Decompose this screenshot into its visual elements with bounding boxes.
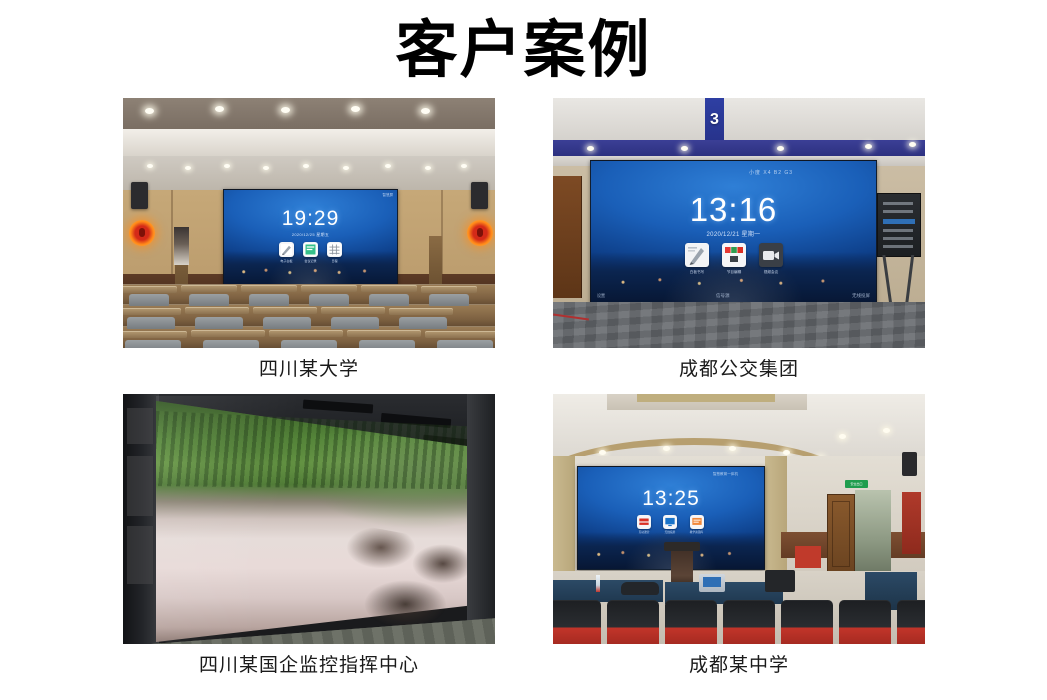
seat-desk: [301, 285, 357, 292]
screen-date: 2020/12/25 星期五: [224, 232, 397, 238]
screen-app-schedule[interactable]: 日程: [327, 242, 342, 263]
ceiling-downlight: [587, 146, 594, 151]
case-photo-school-lecture-hall: 智慧教育一体机 13:25 互动课堂: [553, 394, 925, 644]
seat-desk: [361, 285, 417, 292]
ceiling-downlight: [425, 166, 431, 170]
screen-glare: [156, 396, 495, 642]
video-camera-icon: [759, 243, 783, 267]
case-caption: 四川某大学: [123, 357, 495, 383]
ceiling-downlight: [303, 164, 309, 168]
audience-chair: [553, 600, 601, 644]
case-card-chengdu-middle-school[interactable]: 智慧教育一体机 13:25 互动课堂: [553, 394, 925, 679]
ceiling-downlight: [281, 107, 290, 113]
seat-back: [249, 294, 289, 306]
app-label: 白板书写: [686, 269, 708, 274]
ceiling-band: [123, 129, 495, 156]
screen-app-row: 电子白板 会议记录: [224, 242, 397, 263]
seat-back: [437, 340, 493, 348]
laptop: [699, 574, 725, 592]
screen-clock: 19:29: [224, 207, 397, 231]
ceiling-lower: [123, 156, 495, 190]
screen-app-whiteboard[interactable]: 电子白板: [279, 242, 294, 263]
audience-chair: [665, 600, 717, 644]
panel-row: [883, 210, 913, 213]
ceiling-downlight: [461, 164, 467, 168]
panel-row: [883, 202, 913, 205]
seat-desk: [185, 307, 249, 314]
app-label: 会议记录: [304, 258, 318, 263]
seat-back: [331, 317, 379, 329]
screen-settings-label[interactable]: 设置: [597, 293, 605, 299]
app-label: 节目编辑: [723, 269, 745, 274]
app-label: 互动课堂: [638, 530, 651, 534]
seat-desk: [389, 308, 453, 315]
case-card-chengdu-bus-group[interactable]: 3 小度 X4 B2 G3 13:16 2020/12/21 星期一: [553, 98, 925, 383]
ceiling-downlight: [385, 164, 391, 168]
case-caption: 成都公交集团: [553, 357, 925, 383]
seat-desk: [421, 286, 477, 293]
screen-app-row: 白板书写 节目编辑: [591, 243, 876, 275]
exit-sign: 安全出口: [845, 480, 868, 488]
seat-back: [195, 317, 243, 329]
audience-chair: [723, 600, 775, 644]
wall-glass-panel: [127, 526, 153, 584]
screen-app-row: 互动课堂 无线投屏: [578, 515, 764, 534]
seat-back: [263, 317, 311, 329]
ceiling-downlight: [783, 450, 790, 455]
case-photo-bus-group-led-wall: 3 小度 X4 B2 G3 13:16 2020/12/21 星期一: [553, 98, 925, 348]
seat-desk: [425, 331, 495, 338]
seat-back: [281, 340, 337, 348]
ceiling-downlight: [421, 108, 430, 114]
laptop-bag: [621, 582, 659, 595]
screen-date: 2020/12/21 星期一: [591, 229, 876, 238]
app-label: 教学资源库: [690, 530, 704, 534]
customer-cases-grid: 智慧屏 19:29 2020/12/25 星期五 电子白板: [123, 98, 923, 690]
seat-desk: [181, 285, 237, 292]
screen-cast-label[interactable]: 无线投屏: [852, 293, 870, 299]
screen-app-courseware[interactable]: 互动课堂: [637, 515, 651, 534]
wall-pillar: [553, 456, 575, 571]
page-title: 客户案例: [0, 14, 1047, 88]
ceiling: [553, 98, 925, 140]
screen-top-right-label: 智慧教育一体机: [713, 472, 738, 477]
wall-speaker: [131, 182, 148, 209]
lectern: [174, 227, 189, 265]
wall-notice-board: [902, 492, 921, 554]
screen-app-screen-share[interactable]: 无线投屏: [663, 515, 677, 534]
seat-desk: [321, 307, 385, 314]
color-bars-icon: [722, 243, 746, 267]
seat-desk: [269, 330, 343, 337]
seat-back: [399, 317, 447, 329]
app-label: 日程: [328, 258, 342, 263]
screen-source-label[interactable]: 信号源: [716, 293, 730, 299]
app-label: 电子白板: [280, 258, 294, 263]
courseware-icon: [637, 515, 651, 529]
screen-model-label: 小度 X4 B2 G3: [749, 169, 793, 176]
audience-chair: [839, 600, 891, 644]
seat-back: [127, 317, 175, 329]
wall-emblem-light: [467, 220, 493, 246]
wall-glass-panel: [127, 456, 153, 516]
ceiling-downlight: [147, 164, 153, 168]
panel-row: [883, 245, 913, 248]
ceiling-downlight: [599, 450, 606, 455]
open-doorway: [855, 490, 891, 572]
wall-speaker: [471, 182, 488, 209]
ceiling-downlight: [224, 164, 230, 168]
seat-back: [359, 340, 415, 348]
led-video-wall[interactable]: 小度 X4 B2 G3 13:16 2020/12/21 星期一: [590, 160, 877, 304]
notes-icon: [303, 242, 318, 257]
ceiling-downlight: [263, 166, 269, 170]
led-video-wall[interactable]: [156, 396, 495, 642]
screen-app-color[interactable]: 节目编辑: [722, 243, 746, 275]
app-label: 无线投屏: [664, 530, 677, 534]
seat-desk: [123, 286, 177, 293]
case-card-sichuan-university[interactable]: 智慧屏 19:29 2020/12/25 星期五 电子白板: [123, 98, 495, 383]
screen-app-resource[interactable]: 教学资源库: [689, 515, 704, 534]
seat-desk: [123, 331, 187, 338]
app-label: 视频会议: [760, 269, 782, 274]
ceiling-downlight: [351, 106, 360, 112]
panel-row: [883, 237, 913, 240]
led-display-screen[interactable]: 智慧屏 19:29 2020/12/25 星期五 电子白板: [223, 189, 398, 287]
seat-back: [309, 294, 349, 306]
right-wall: [467, 394, 495, 644]
wall-emblem-light: [129, 220, 155, 246]
case-photo-university-auditorium: 智慧屏 19:29 2020/12/25 星期五 电子白板: [123, 98, 495, 348]
seat-desk: [191, 330, 265, 337]
screen-app-whiteboard[interactable]: 白板书写: [685, 243, 709, 275]
audience-chair: [781, 600, 833, 644]
control-panel[interactable]: [877, 193, 921, 257]
wood-door: [553, 176, 582, 298]
seat-desk: [241, 285, 297, 292]
ceiling-downlight: [185, 166, 191, 170]
whiteboard-icon: [685, 243, 709, 267]
wallpaper-city-lights: [602, 275, 864, 288]
ceiling-downlight: [215, 106, 224, 112]
desk-monitor: [765, 570, 795, 592]
panel-row: [883, 229, 913, 232]
carpet-floor: [553, 302, 925, 348]
seat-desk: [123, 308, 181, 315]
wallpaper-city-lights: [231, 267, 390, 276]
audience-chair: [607, 600, 659, 644]
hanging-banner: 3: [705, 98, 724, 140]
case-photo-command-center-video-wall: [123, 394, 495, 644]
seat-desk: [253, 307, 317, 314]
water-bottle: [596, 575, 600, 592]
wood-door: [827, 494, 855, 574]
wall-seam: [171, 190, 173, 280]
resource-library-icon: [690, 515, 704, 529]
schedule-grid-icon: [327, 242, 342, 257]
screen-share-icon: [663, 515, 677, 529]
ceiling-upper: [123, 98, 495, 129]
case-caption: 四川某国企监控指挥中心: [123, 653, 495, 679]
ceiling-downlight: [865, 144, 872, 149]
ceiling-downlight: [343, 166, 349, 170]
ceiling-downlight: [681, 146, 688, 151]
audience-chair: [897, 600, 925, 644]
wall-speaker: [902, 452, 917, 476]
seat-desk: [347, 330, 421, 337]
seat-back: [125, 340, 181, 348]
side-door: [429, 236, 442, 284]
seat-back: [189, 294, 229, 306]
screen-clock: 13:25: [578, 487, 764, 511]
ceiling-downlight: [663, 446, 670, 451]
case-caption: 成都某中学: [553, 653, 925, 679]
seat-back: [203, 340, 259, 348]
screen-app-camera[interactable]: 视频会议: [759, 243, 783, 275]
seat-back: [429, 294, 469, 306]
whiteboard-icon: [279, 242, 294, 257]
screen-clock: 13:16: [591, 191, 876, 229]
screen-top-right-label: 智慧屏: [383, 193, 394, 198]
wall-glass-panel: [127, 408, 153, 444]
left-wall: [123, 394, 159, 644]
ceiling-downlight: [909, 142, 916, 147]
seat-back: [129, 294, 169, 306]
screen-app-notes[interactable]: 会议记录: [303, 242, 318, 263]
ceiling-downlight: [883, 428, 890, 433]
case-card-soe-command-center[interactable]: 四川某国企监控指挥中心: [123, 394, 495, 679]
seat-back: [369, 294, 409, 306]
ceiling-downlight: [777, 146, 784, 151]
ceiling-downlight: [145, 108, 154, 114]
ceiling-downlight: [839, 434, 846, 439]
fire-equipment-box: [795, 546, 821, 568]
panel-row-active: [883, 219, 915, 224]
ceiling-coffer-trim: [637, 394, 775, 402]
ceiling-downlight: [729, 446, 736, 451]
